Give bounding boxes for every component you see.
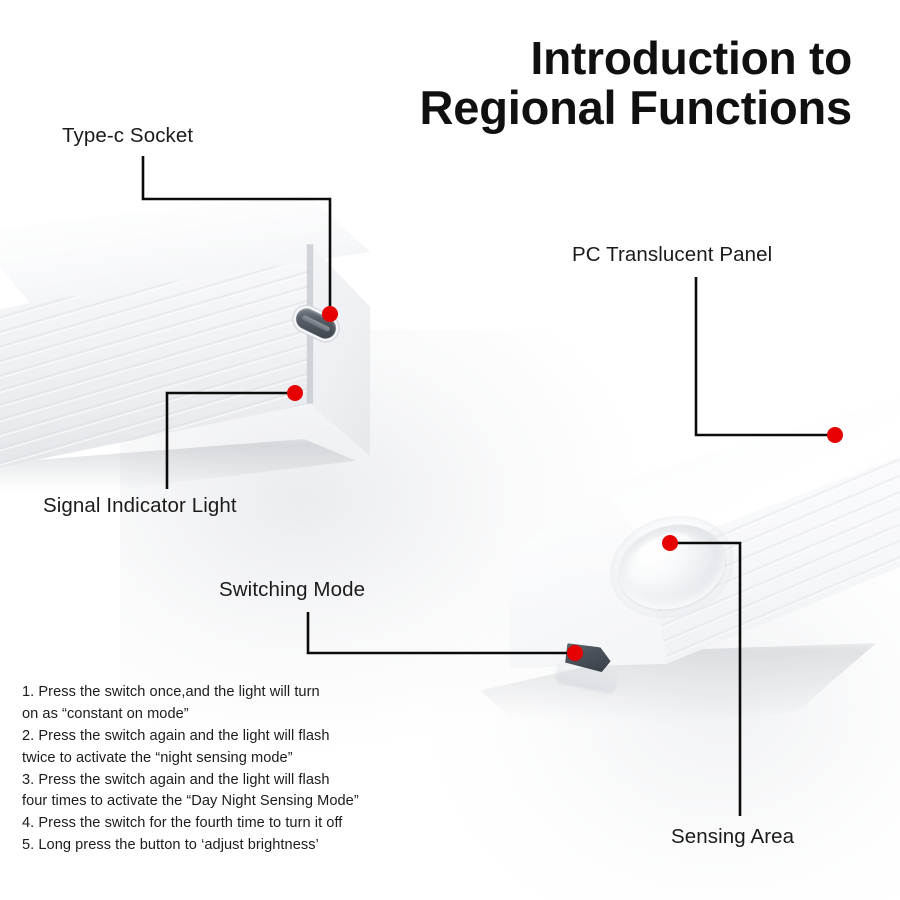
instruction-line: 3. Press the switch again and the light …	[22, 770, 452, 792]
callout-label-sensing-area: Sensing Area	[671, 825, 794, 849]
callout-label-type-c-socket: Type-c Socket	[62, 124, 193, 148]
callout-label-switching-mode: Switching Mode	[219, 578, 365, 602]
instruction-line: 4. Press the switch for the fourth time …	[22, 813, 452, 835]
callout-label-signal-indicator-light: Signal Indicator Light	[43, 494, 237, 518]
infographic-canvas: Introduction to Regional Functions Type-…	[0, 0, 900, 900]
instruction-line: four times to activate the “Day Night Se…	[22, 791, 452, 813]
instruction-line: twice to activate the “night sensing mod…	[22, 748, 452, 770]
title-line-2: Regional Functions	[332, 83, 852, 133]
callout-label-pc-translucent-panel: PC Translucent Panel	[572, 243, 772, 267]
operating-instructions-list: 1. Press the switch once,and the light w…	[22, 682, 452, 857]
instruction-line: on as “constant on mode”	[22, 704, 452, 726]
instruction-line: 1. Press the switch once,and the light w…	[22, 682, 452, 704]
instruction-line: 2. Press the switch again and the light …	[22, 726, 452, 748]
instruction-line: 5. Long press the button to ‘adjust brig…	[22, 835, 452, 857]
product-led-bar-usbc	[0, 195, 390, 485]
usb-c-socket-inner	[302, 314, 331, 332]
title-line-1: Introduction to	[332, 34, 852, 83]
page-title: Introduction to Regional Functions	[332, 34, 852, 133]
product-led-bar-sensor	[470, 395, 900, 815]
